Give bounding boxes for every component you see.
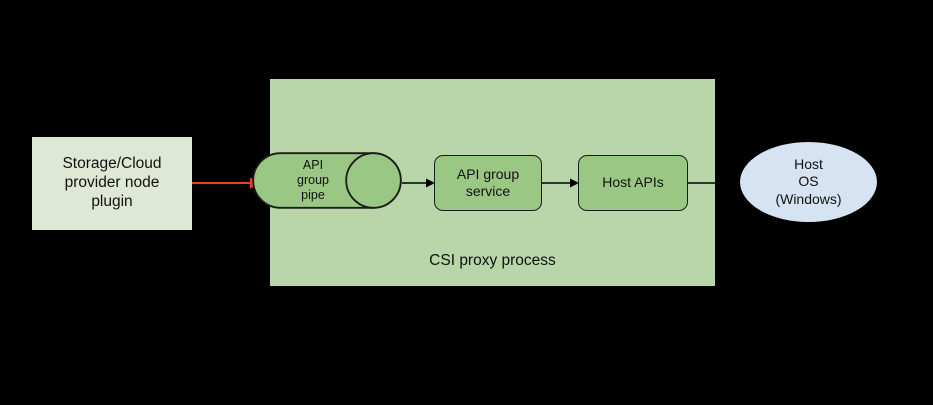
node-plugin-label: Storage/Cloud provider node plugin xyxy=(62,155,161,212)
storage-cloud-provider-node-plugin-box[interactable]: Storage/Cloud provider node plugin xyxy=(32,137,192,230)
host-apis-label: Host APIs xyxy=(602,174,663,191)
connector-host-apis-to-host-os xyxy=(688,176,716,190)
host-apis-box[interactable]: Host APIs xyxy=(578,155,688,211)
api-group-service-label: API group service xyxy=(457,166,519,200)
api-group-pipe-label: API group pipe xyxy=(258,152,368,209)
diagram-canvas: CSI proxy process Storage/Cloud provider… xyxy=(0,0,933,405)
host-os-ellipse[interactable]: Host OS (Windows) xyxy=(740,142,877,222)
connector-api-group-service-to-host-apis xyxy=(542,176,580,190)
api-group-pipe-shape[interactable]: API group pipe xyxy=(252,152,402,209)
csi-proxy-process-label: CSI proxy process xyxy=(270,252,715,270)
connector-pipe-to-api-group-service xyxy=(402,176,436,190)
host-os-label: Host OS (Windows) xyxy=(775,156,841,207)
api-group-service-box[interactable]: API group service xyxy=(434,155,542,211)
